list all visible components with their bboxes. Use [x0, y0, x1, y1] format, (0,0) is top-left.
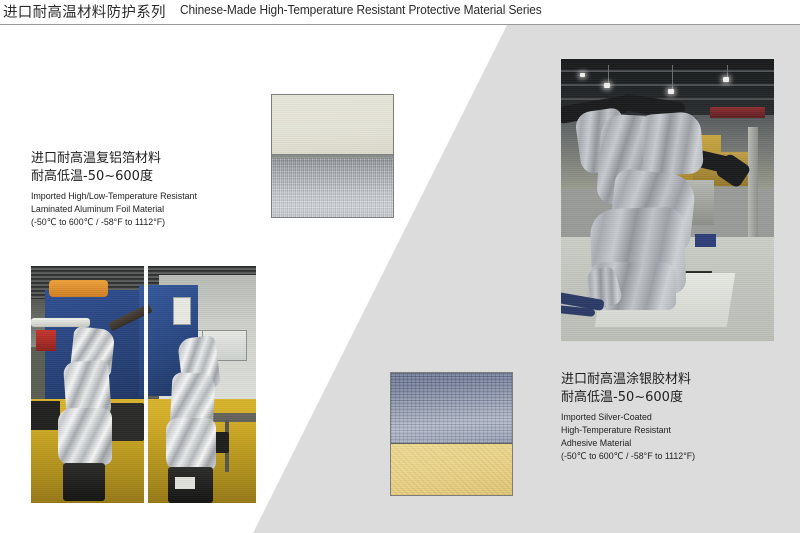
caption-desc-line-1: Imported Silver-Coated	[561, 411, 780, 424]
photo-split-divider	[144, 266, 148, 503]
red-overhead-structure	[710, 107, 765, 118]
ceiling-light	[580, 73, 585, 77]
ceiling-light	[723, 77, 729, 82]
robot-right-base-label	[175, 477, 195, 489]
page-header: 进口耐高温材料防护系列 Chinese-Made High-Temperatur…	[0, 0, 800, 25]
blue-box	[695, 234, 716, 247]
caption-subtitle-chinese: 耐高低温-50~600度	[31, 168, 241, 186]
white-pipe	[31, 318, 90, 327]
woven-texture	[391, 373, 512, 443]
woven-texture	[391, 444, 512, 495]
slide-page: 进口耐高温材料防护系列 Chinese-Made High-Temperatur…	[0, 0, 800, 533]
caption-description-english: Imported High/Low-Temperature Resistant …	[31, 190, 231, 230]
light-hanger	[608, 65, 609, 85]
caption-title-chinese: 进口耐高温复铝箔材料	[31, 150, 241, 168]
silver-coated-adhesive-swatch	[390, 372, 513, 496]
grey-covered-robot-photo	[561, 59, 774, 341]
caption-title-chinese: 进口耐高温涂银胶材料	[561, 371, 791, 389]
caption-subtitle-chinese: 耐高低温-50~600度	[561, 389, 791, 407]
orange-cable-duct	[49, 280, 108, 297]
ceiling-beam	[561, 84, 774, 86]
control-panel	[173, 297, 191, 325]
dark-equipment-left	[31, 401, 60, 429]
caption-aluminum-foil-laminate: 进口耐高温复铝箔材料 耐高低温-50~600度 Imported High/Lo…	[31, 150, 241, 229]
ceiling-light	[604, 83, 610, 88]
brushed-texture-secondary	[272, 158, 393, 217]
swatch-top-layer	[272, 95, 393, 154]
foil-wrapped-robots-photo	[31, 266, 256, 503]
caption-desc-line-2: Laminated Aluminum Foil Material	[31, 203, 231, 216]
caption-desc-line-2: High-Temperature Resistant	[561, 424, 780, 437]
caption-description-english: Imported Silver-Coated High-Temperature …	[561, 411, 780, 464]
caption-desc-line-4: (-50℃ to 600℃ / -58°F to 1112°F)	[561, 450, 780, 463]
swatch-bottom-layer	[391, 444, 512, 495]
caption-desc-line-3: (-50℃ to 600℃ / -58°F to 1112°F)	[31, 216, 231, 229]
caption-desc-line-3: Adhesive Material	[561, 437, 780, 450]
caption-silver-coated-adhesive: 进口耐高温涂银胶材料 耐高低温-50~600度 Imported Silver-…	[561, 371, 791, 464]
light-hanger	[672, 65, 673, 90]
aluminum-foil-laminate-swatch	[271, 94, 394, 218]
robot-left-foil-lower	[58, 408, 112, 465]
red-valve	[36, 330, 56, 351]
header-title-english: Chinese-Made High-Temperature Resistant …	[180, 2, 542, 17]
robot-left-base	[63, 463, 106, 501]
swatch-top-layer	[391, 373, 512, 443]
header-title-chinese: 进口耐高温材料防护系列	[3, 1, 166, 22]
robot-right-foil-lower	[166, 418, 216, 473]
swatch-bottom-layer	[272, 158, 393, 217]
caption-desc-line-1: Imported High/Low-Temperature Resistant	[31, 190, 231, 203]
ceiling-beam	[561, 70, 774, 72]
ceiling-light	[668, 89, 674, 94]
robot-cover-forearm	[640, 111, 704, 177]
